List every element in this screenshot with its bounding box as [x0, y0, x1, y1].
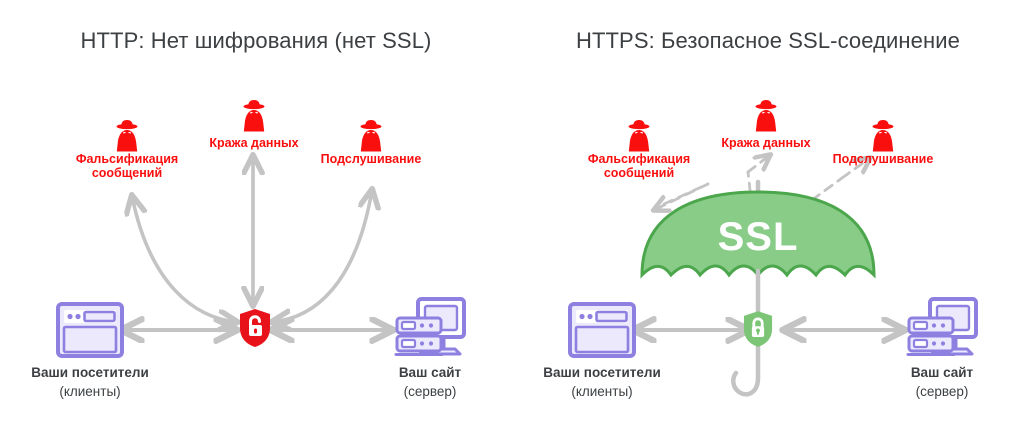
umbrella-ssl-text: SSL — [718, 215, 799, 259]
threat-label-data-theft: Кража данных — [169, 136, 339, 150]
client-label-line1: Ваши посетители — [502, 363, 702, 382]
http-connections-layer — [0, 0, 512, 424]
browser-window-icon-https — [568, 302, 636, 358]
thief-icon-message-forgery — [114, 119, 140, 153]
server-label-line2: (сервер) — [330, 382, 530, 401]
endpoint-label-client-https: Ваши посетители (клиенты) — [502, 363, 702, 401]
thief-icon-data-theft — [241, 99, 267, 133]
arrow-to-message-forgery — [132, 196, 237, 322]
server-label-line2: (сервер) — [842, 382, 1024, 401]
threat-label-line1: Подслушивание — [798, 152, 968, 166]
endpoint-label-client-http: Ваши посетители (клиенты) — [0, 363, 190, 401]
panel-http: HTTP: Нет шифрования (нет SSL) — [0, 0, 512, 424]
threat-label-line1: Кража данных — [169, 136, 339, 150]
shield-locked-icon — [743, 310, 773, 348]
client-label-line2: (клиенты) — [0, 382, 190, 401]
endpoint-label-server-http: Ваш сайт (сервер) — [330, 363, 530, 401]
threat-label-line1: Кража данных — [681, 136, 851, 150]
threat-label-eavesdropping: Подслушивание — [286, 152, 456, 166]
arrow-to-eavesdropping — [272, 190, 372, 322]
server-monitor-icon-http — [392, 296, 468, 360]
threat-label-line1: Фальсификация — [42, 152, 212, 166]
thief-icon-eavesdropping — [870, 119, 896, 153]
infographic-canvas: HTTP: Нет шифрования (нет SSL) — [0, 0, 1024, 424]
threat-label-eavesdropping: Подслушивание — [798, 152, 968, 166]
endpoint-label-server-https: Ваш сайт (сервер) — [842, 363, 1024, 401]
threat-label-line2: сообщений — [42, 166, 212, 180]
threat-label-message-forgery: Фальсификация сообщений — [42, 152, 212, 180]
threat-label-message-forgery: Фальсификация сообщений — [554, 152, 724, 180]
https-connections-layer: SSL — [512, 0, 1024, 424]
client-label-line2: (клиенты) — [502, 382, 702, 401]
server-monitor-icon-https — [904, 296, 980, 360]
thief-icon-message-forgery — [626, 119, 652, 153]
threat-label-line1: Подслушивание — [286, 152, 456, 166]
server-label-line1: Ваш сайт — [330, 363, 530, 382]
ssl-umbrella: SSL — [642, 192, 874, 275]
thief-icon-data-theft — [753, 99, 779, 133]
browser-window-icon-http — [56, 302, 124, 358]
server-label-line1: Ваш сайт — [842, 363, 1024, 382]
threat-label-data-theft: Кража данных — [681, 136, 851, 150]
panel-https: HTTPS: Безопасное SSL-соединение — [512, 0, 1024, 424]
client-label-line1: Ваши посетители — [0, 363, 190, 382]
threat-label-line1: Фальсификация — [554, 152, 724, 166]
threat-label-line2: сообщений — [554, 166, 724, 180]
shield-unlocked-icon — [239, 308, 271, 348]
thief-icon-eavesdropping — [358, 119, 384, 153]
